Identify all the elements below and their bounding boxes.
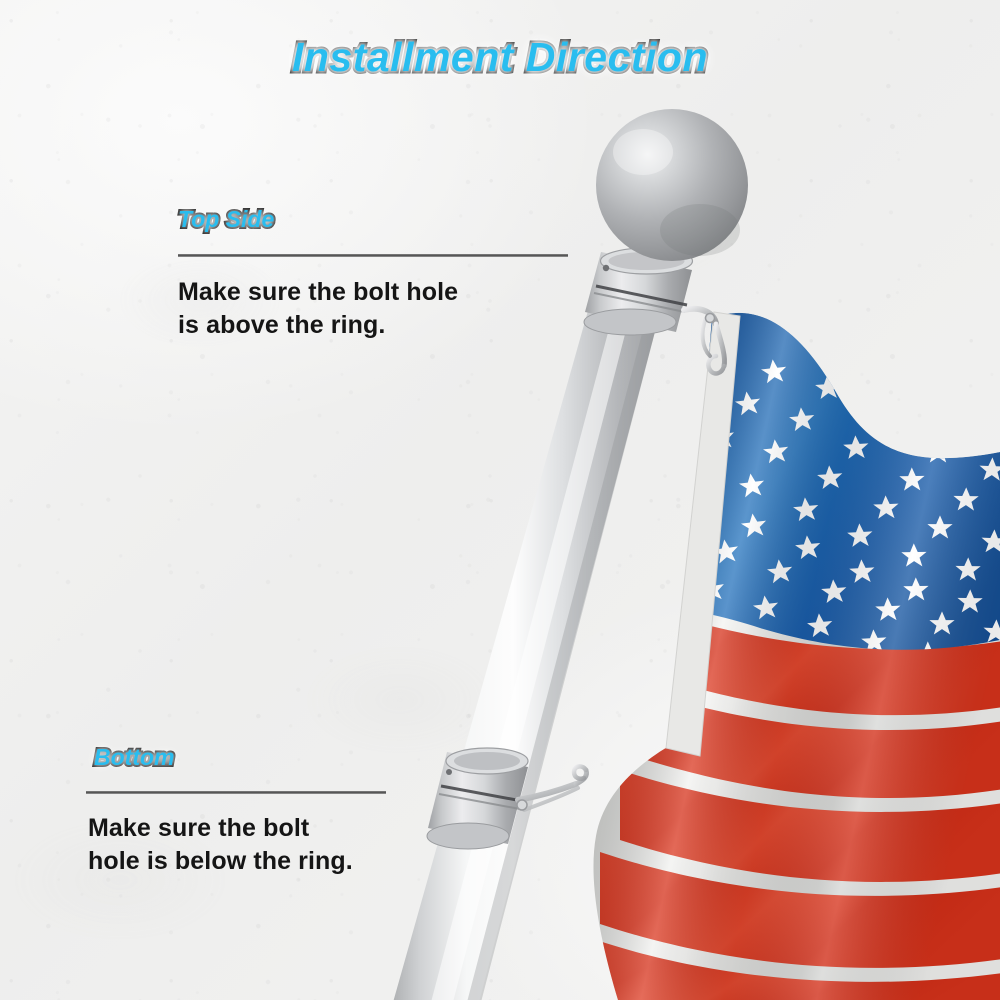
section-body-top-side: Make sure the bolt hole is above the rin… — [178, 276, 458, 342]
top-bolt-hole — [603, 265, 609, 271]
section-heading-bottom: Bottom — [94, 744, 174, 771]
section-divider-bottom — [86, 791, 386, 794]
ball-finial — [596, 109, 748, 261]
page-title: Installment Direction — [0, 34, 1000, 81]
bottom-bolt-hole — [446, 769, 452, 775]
flagpole-highlight — [430, 272, 640, 1000]
top-mounting-ring — [584, 248, 693, 335]
section-heading-top-side: Top Side — [178, 206, 274, 233]
section-body-bottom: Make sure the bolt hole is below the rin… — [88, 812, 353, 878]
section-divider-top-side — [178, 254, 568, 257]
top-swivel-clip — [684, 309, 725, 374]
product-instruction-image: Installment Direction Top Side Make sure… — [0, 0, 1000, 1000]
